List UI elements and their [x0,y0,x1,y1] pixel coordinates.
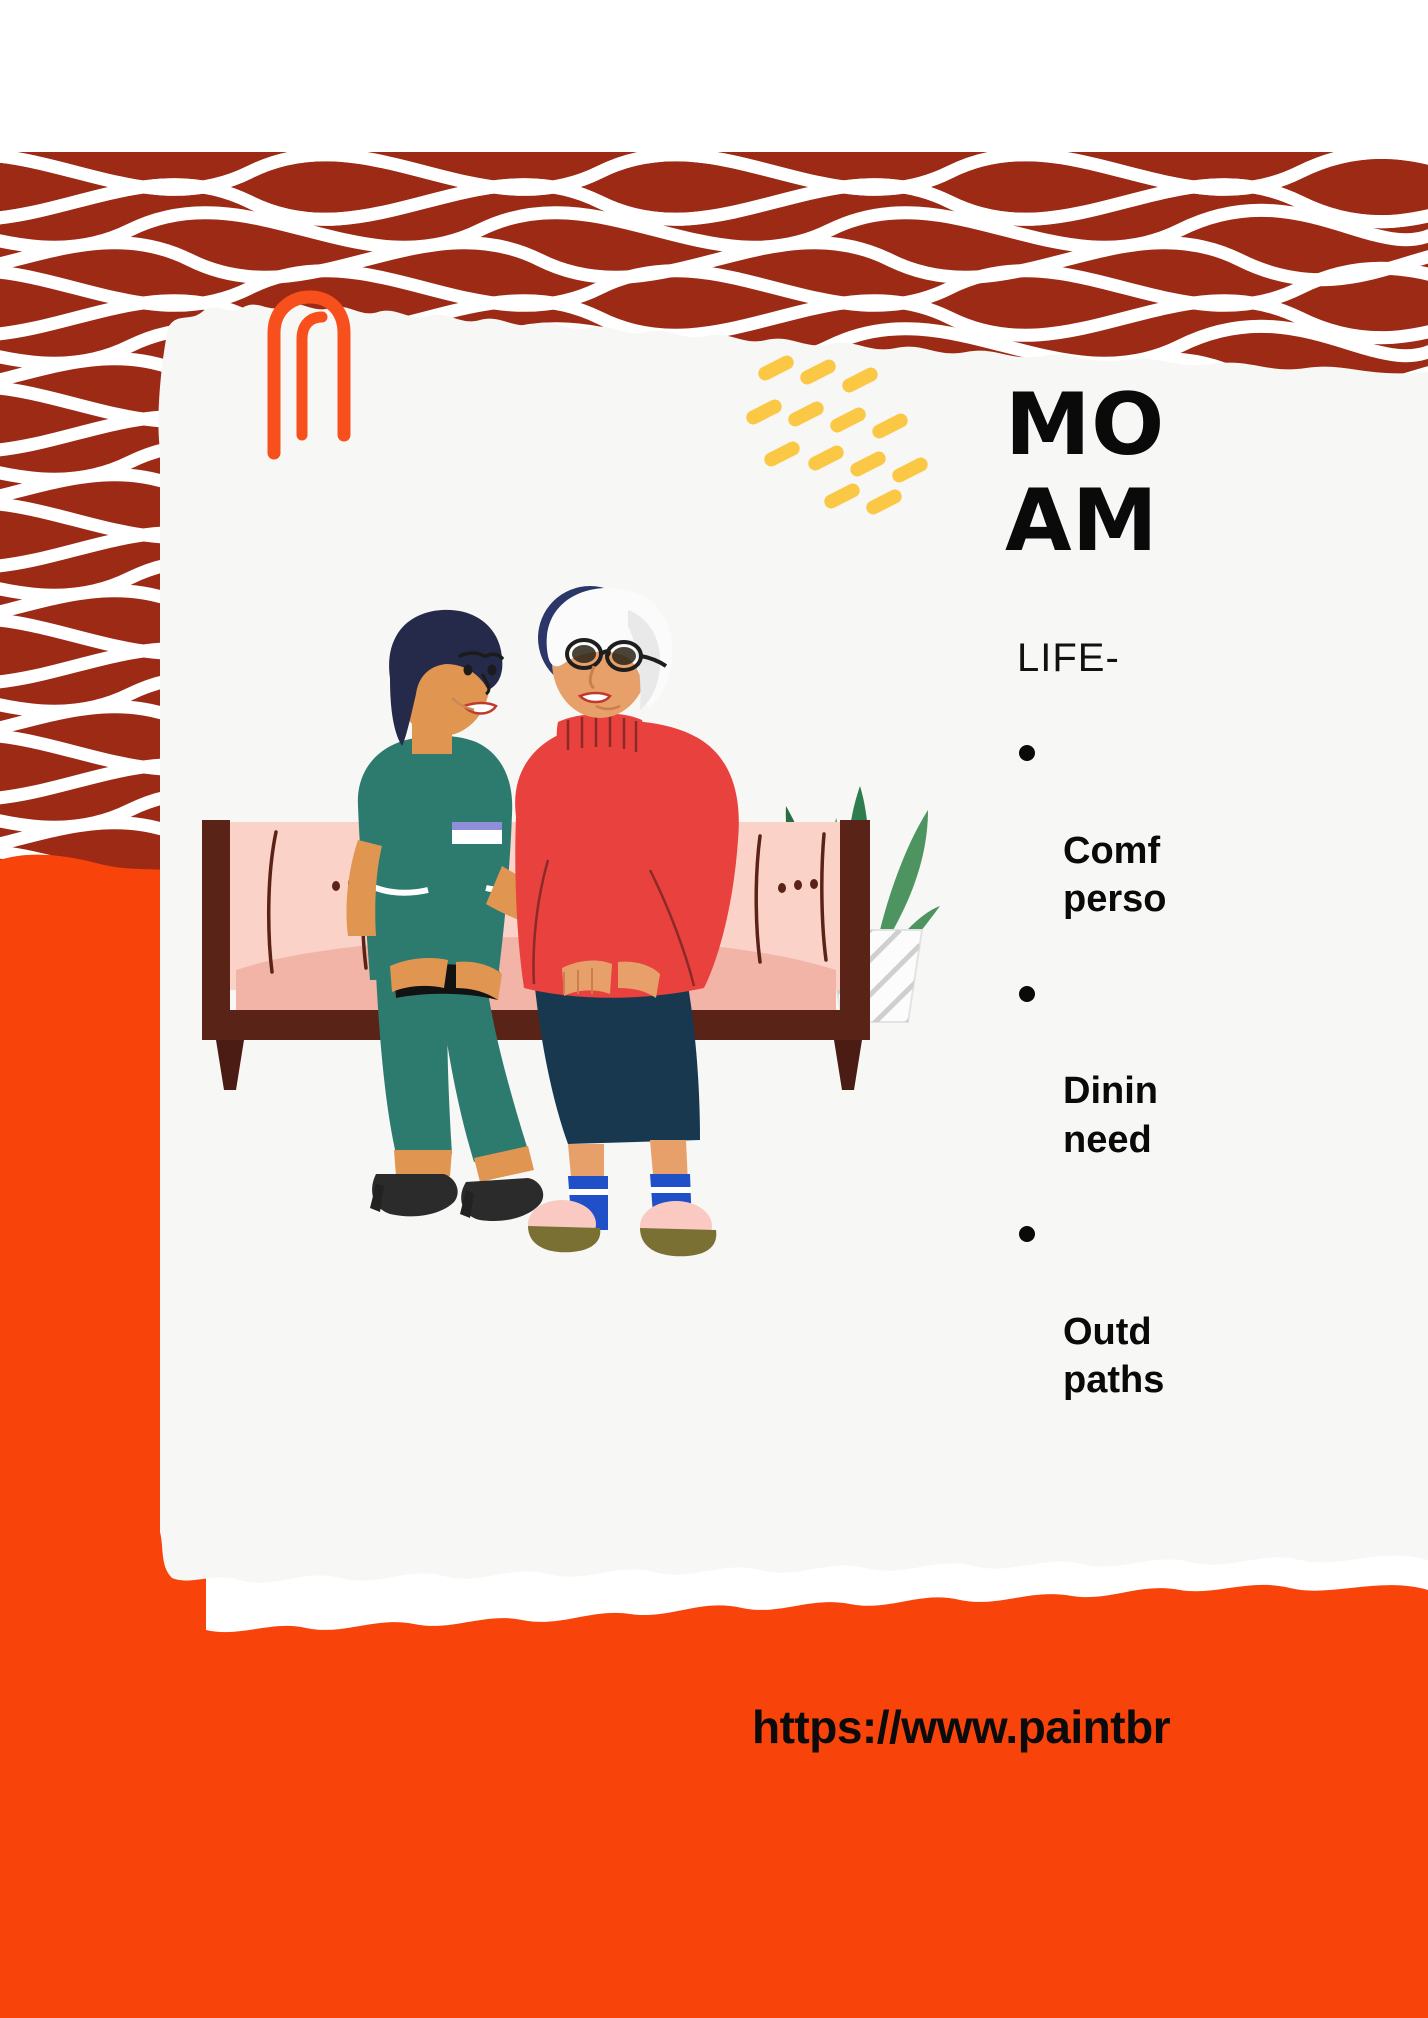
list-item: Comf perso [1019,729,1428,924]
paperclip-icon [248,285,358,460]
dash [822,481,862,511]
dash [744,397,784,427]
paperclip [248,285,358,460]
poster-canvas: MO AM LIFE- Comf perso Dinin need Outd p… [0,0,1428,2018]
headline-line-1: MO [1005,375,1165,475]
list-item-text: Outd paths [1063,1311,1164,1402]
dash [828,405,868,435]
list-item-text: Dinin need [1063,1070,1158,1161]
illustration-svg [180,570,940,1400]
name-badge [452,822,502,844]
dash [806,443,846,473]
website-url[interactable]: https://www.paintbr [752,1700,1170,1754]
poster-text-column: MO AM LIFE- Comf perso Dinin need Outd p… [1005,385,1428,1451]
dash [786,399,826,429]
subheading: LIFE- [1017,636,1428,681]
yellow-dash-decoration [745,355,945,515]
dash [848,449,888,479]
dash [762,439,802,469]
top-white-strip [0,0,1428,152]
dash [756,353,796,383]
dash [798,357,838,387]
bullet-dot-icon [1019,1226,1035,1242]
dash [864,487,904,517]
dash [890,455,930,485]
feature-bullet-list: Comf perso Dinin need Outd paths [1005,729,1428,1405]
headline-line-2: AM [1005,481,1428,563]
list-item-text: Comf perso [1063,830,1166,921]
dash [840,365,880,395]
dash [870,411,910,441]
page-title: MO AM [1005,385,1428,562]
list-item: Outd paths [1019,1210,1428,1405]
bullet-dot-icon [1019,986,1035,1002]
bullet-dot-icon [1019,745,1035,761]
care-illustration [180,570,940,1400]
list-item: Dinin need [1019,970,1428,1165]
elderly-resident-figure [515,588,739,1256]
